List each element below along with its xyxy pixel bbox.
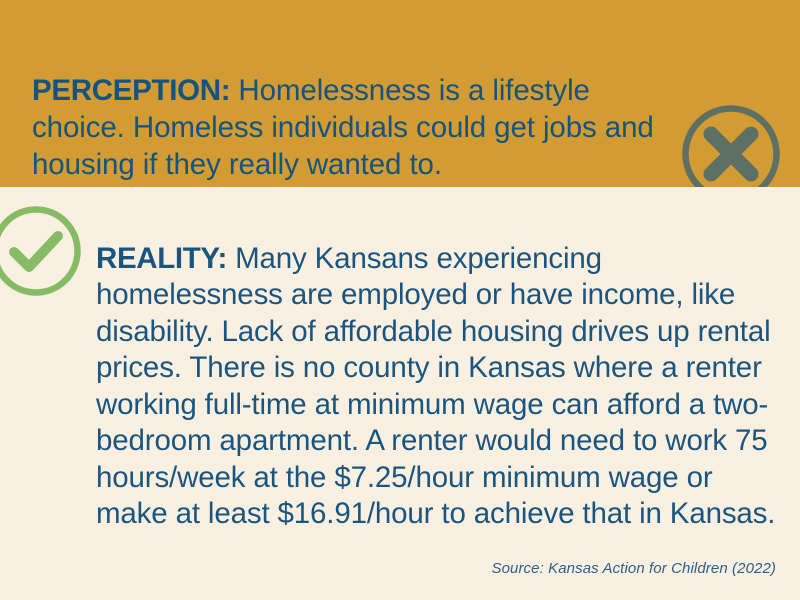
reality-lead-label: REALITY:: [96, 242, 227, 275]
infographic-root: PERCEPTION: Homelessness is a lifestyle …: [0, 0, 800, 600]
check-mark-circle-icon: [0, 203, 84, 299]
reality-region: REALITY: Many Kansans experiencing homel…: [0, 187, 800, 600]
reality-body-text: Many Kansans experiencing homelessness a…: [96, 242, 775, 531]
x-mark-circle-icon: [678, 101, 784, 187]
source-attribution: Source: Kansas Action for Children (2022…: [491, 560, 776, 577]
perception-lead-label: PERCEPTION:: [32, 74, 230, 107]
perception-band: PERCEPTION: Homelessness is a lifestyle …: [0, 0, 800, 187]
perception-statement: PERCEPTION: Homelessness is a lifestyle …: [32, 72, 682, 183]
reality-statement: REALITY: Many Kansans experiencing homel…: [96, 241, 776, 533]
